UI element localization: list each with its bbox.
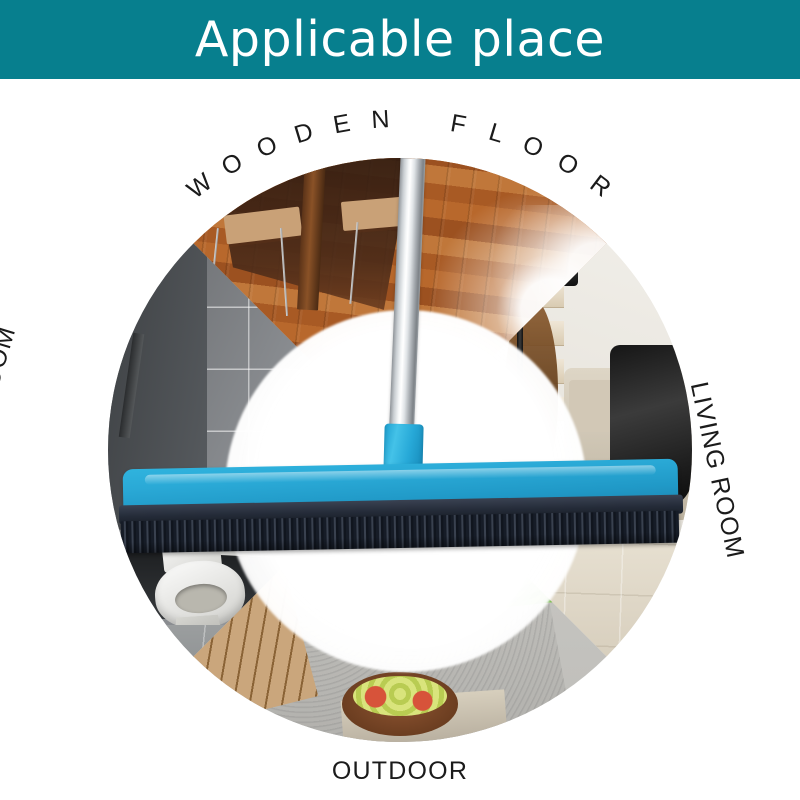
label-living-room: LIVING ROOM bbox=[684, 379, 750, 561]
label-wooden-floor-char: D bbox=[291, 117, 317, 150]
chair-seat bbox=[340, 196, 412, 231]
label-wooden-floor-char: L bbox=[485, 118, 507, 150]
collage bbox=[108, 158, 692, 742]
black-armchair bbox=[610, 345, 692, 509]
header-banner: Applicable place bbox=[0, 0, 800, 79]
chair-leg bbox=[408, 216, 418, 292]
label-wooden-floor-char bbox=[415, 105, 424, 134]
label-wooden-floor-char: E bbox=[331, 109, 353, 140]
fruit-basket bbox=[342, 672, 459, 736]
label-bathroom: BATHROOM bbox=[0, 323, 22, 477]
page-title: Applicable place bbox=[195, 15, 605, 64]
product-highlight-core bbox=[283, 392, 540, 649]
label-wooden-floor-char: N bbox=[371, 105, 391, 135]
label-wooden-floor-char: F bbox=[448, 109, 468, 140]
collage-circle bbox=[108, 158, 692, 742]
marketing-image: Applicable place bbox=[0, 0, 800, 800]
label-outdoor: OUTDOOR bbox=[0, 757, 800, 786]
fruit-pile bbox=[353, 676, 446, 716]
